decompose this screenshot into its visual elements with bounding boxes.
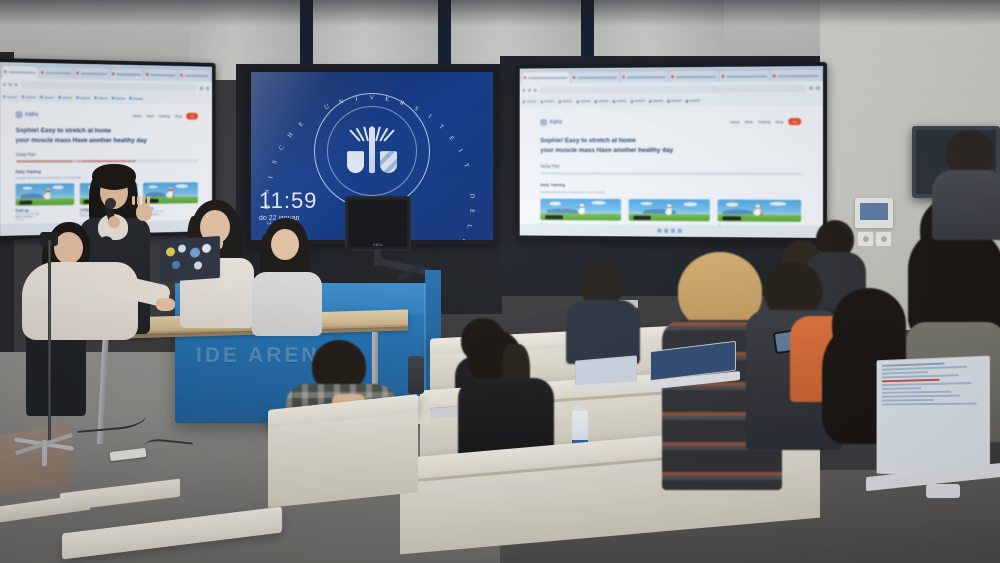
section-note: Complete all exercises to keep today's m… xyxy=(540,190,801,195)
url-input[interactable] xyxy=(539,85,806,93)
sticker xyxy=(194,261,202,270)
progress-fill: 65% xyxy=(17,160,136,162)
profile-icon[interactable] xyxy=(206,86,210,90)
browser-tab[interactable] xyxy=(109,69,143,81)
bookmark-item[interactable] xyxy=(58,96,72,99)
bookmark-item[interactable] xyxy=(649,100,663,103)
browser-tab[interactable] xyxy=(2,66,38,78)
bookmark-item[interactable] xyxy=(3,95,18,98)
nav-item-work[interactable]: Work xyxy=(146,114,154,118)
shield-right-icon xyxy=(380,151,397,173)
bookmark-item[interactable] xyxy=(94,97,108,100)
today-plan-label: Today Plan xyxy=(540,163,801,168)
nav-item-shop[interactable]: Shop xyxy=(175,114,183,118)
exercise-card-list: Push up 100 Cal / 20 min / day Start to … xyxy=(540,199,801,226)
bookmark-item[interactable] xyxy=(594,100,608,103)
reload-icon[interactable] xyxy=(534,89,537,92)
mic-stand-leg xyxy=(42,440,47,466)
lecture-room-photo: FitFit Home Work Training Shop Go Sophie… xyxy=(0,0,1000,563)
computer-mouse[interactable] xyxy=(926,484,960,498)
progress-percent-label: 65% xyxy=(619,172,629,175)
desk-monitor: DELL xyxy=(345,196,411,251)
browser-tab[interactable] xyxy=(38,67,73,79)
exercise-illustration xyxy=(16,183,75,205)
app-header: FitFit Home Work Training Shop Go xyxy=(16,111,198,119)
nav-item-training[interactable]: Training xyxy=(158,114,170,118)
nav-item-home[interactable]: Home xyxy=(133,114,142,118)
face xyxy=(54,232,83,264)
app-name: FitFit xyxy=(550,119,563,125)
exercise-card[interactable]: Push up 100 Cal / 20 min / day Start to … xyxy=(16,183,75,218)
nav-item-home[interactable]: Home xyxy=(730,120,739,124)
app-logo[interactable]: FitFit xyxy=(540,119,562,126)
exercise-illustration xyxy=(540,199,620,221)
monitor-screen xyxy=(349,200,407,247)
bookmark-item[interactable] xyxy=(76,96,90,99)
torch-icon xyxy=(369,127,375,173)
right-wall-display: FitFit Home Work Training Shop Go Sophie… xyxy=(516,62,827,242)
browser-tab[interactable] xyxy=(620,71,669,82)
audience-member-dark-jacket xyxy=(458,330,554,450)
sticker xyxy=(178,244,186,253)
bookmark-item[interactable] xyxy=(576,100,590,103)
wall-socket xyxy=(876,232,891,246)
seal-crest-icon xyxy=(346,125,398,179)
logo-mark-icon xyxy=(540,119,547,126)
greeting-line-1: Sophie! Easy to stretch at home xyxy=(16,126,198,136)
bookmark-item[interactable] xyxy=(612,100,626,103)
forward-icon[interactable] xyxy=(528,89,531,92)
taskbar-icon[interactable] xyxy=(664,229,668,233)
nav-cta-button[interactable]: Go xyxy=(187,113,198,120)
app-name: FitFit xyxy=(25,112,38,118)
exercise-card[interactable]: Lunge 80 Cal / 15 min / day Start to wor… xyxy=(628,199,710,226)
app-nav[interactable]: Home Work Training Shop Go xyxy=(133,112,198,119)
app-nav[interactable]: Home Work Training Shop Go xyxy=(730,118,801,125)
exercise-card[interactable]: Push up 100 Cal / 20 min / day Start to … xyxy=(540,199,620,226)
nav-item-shop[interactable]: Shop xyxy=(775,120,783,124)
profile-icon[interactable] xyxy=(816,86,820,90)
app-header: FitFit Home Work Training Shop Go xyxy=(540,118,801,126)
back-icon[interactable] xyxy=(522,89,525,92)
browser-tab[interactable] xyxy=(74,68,108,80)
app-logo[interactable]: FitFit xyxy=(16,111,39,118)
bottle-cap xyxy=(575,405,585,411)
bookmark-item[interactable] xyxy=(129,97,143,100)
audience-laptop[interactable] xyxy=(575,358,637,392)
bookmark-item[interactable] xyxy=(686,100,701,103)
exercise-card[interactable]: Crunch 70 Cal / 15 min / day Start to wo… xyxy=(718,199,801,225)
face xyxy=(271,229,299,260)
audience-member xyxy=(566,262,640,342)
extension-icon[interactable] xyxy=(200,86,204,90)
taskbar-icon[interactable] xyxy=(677,229,681,233)
browser-tab[interactable] xyxy=(522,72,570,83)
bookmark-item[interactable] xyxy=(21,96,36,99)
hand-on-desk xyxy=(156,298,175,311)
bookmark-item[interactable] xyxy=(558,100,572,103)
audience-member-back-right xyxy=(932,130,1000,226)
bookmark-item[interactable] xyxy=(631,100,645,103)
fitfit-app: FitFit Home Work Training Shop Go Sophie… xyxy=(520,106,823,226)
today-plan-label: Today Plan xyxy=(16,151,198,156)
bookmark-item[interactable] xyxy=(112,97,126,100)
progress-bar: 65% xyxy=(540,172,801,175)
url-input[interactable] xyxy=(20,82,197,92)
floor-wood-strip xyxy=(0,424,70,495)
bookmark-item[interactable] xyxy=(540,100,554,103)
browser-tab[interactable] xyxy=(178,70,210,81)
progress-bar: 65% xyxy=(16,159,198,163)
taskbar-icon[interactable] xyxy=(657,229,661,233)
laptop-lid xyxy=(877,355,991,478)
greeting-line-2: your muscle mass Have another healthy da… xyxy=(16,136,198,146)
back-icon[interactable] xyxy=(3,83,6,86)
shield-left-icon xyxy=(347,151,364,173)
bookmark-item[interactable] xyxy=(40,96,54,99)
audience-laptop[interactable] xyxy=(650,346,736,388)
taskbar-icon[interactable] xyxy=(671,229,675,233)
dark-travel-bottle xyxy=(408,356,424,394)
nav-item-training[interactable]: Training xyxy=(758,120,771,124)
monitor-brand-label: DELL xyxy=(373,242,383,247)
exercise-illustration xyxy=(628,199,710,221)
exercise-illustration xyxy=(718,199,801,221)
bookmark-item[interactable] xyxy=(522,100,536,103)
browser-tab[interactable] xyxy=(771,70,821,82)
nav-item-work[interactable]: Work xyxy=(745,120,753,124)
raised-hand xyxy=(136,204,152,221)
logo-mark-icon xyxy=(16,111,23,118)
clock-time: 11:59 xyxy=(259,190,317,212)
presenter-leaning-on-desk xyxy=(22,222,174,382)
forward-icon[interactable] xyxy=(9,83,12,86)
control-panel-screen[interactable] xyxy=(860,203,888,220)
os-taskbar[interactable] xyxy=(520,224,823,238)
tu-delft-seal: TECHNISCHE UNIVERSITEIT DELFT MDCCCXLII xyxy=(314,93,430,209)
browser-tab[interactable] xyxy=(720,71,770,83)
sticker xyxy=(202,244,211,254)
mic-stand-pole xyxy=(48,240,51,445)
reload-icon[interactable] xyxy=(15,83,18,86)
ceiling-shadow xyxy=(0,0,1000,26)
bookmark-item[interactable] xyxy=(667,100,682,103)
browser-tab[interactable] xyxy=(670,71,719,83)
progress-percent-label: 65% xyxy=(72,159,81,163)
sticker xyxy=(190,247,200,258)
nav-cta-button[interactable]: Go xyxy=(789,118,802,125)
browser-tab[interactable] xyxy=(570,72,618,83)
presenter-seated-right xyxy=(252,218,324,328)
laptop-screen-content xyxy=(879,359,987,475)
extension-icon[interactable] xyxy=(809,86,813,90)
greeting-line-2: your muscle mass Have another healthy da… xyxy=(540,146,801,156)
greeting-line-1: Sophie! Easy to stretch at home xyxy=(540,136,801,146)
browser-window-right: FitFit Home Work Training Shop Go Sophie… xyxy=(520,66,823,238)
browser-tab[interactable] xyxy=(144,69,177,81)
web-page-area: FitFit Home Work Training Shop Go Sophie… xyxy=(520,106,823,226)
bench-front-panel xyxy=(268,412,418,508)
section-title: Daily Training xyxy=(540,182,801,188)
microphone-head xyxy=(105,198,116,209)
